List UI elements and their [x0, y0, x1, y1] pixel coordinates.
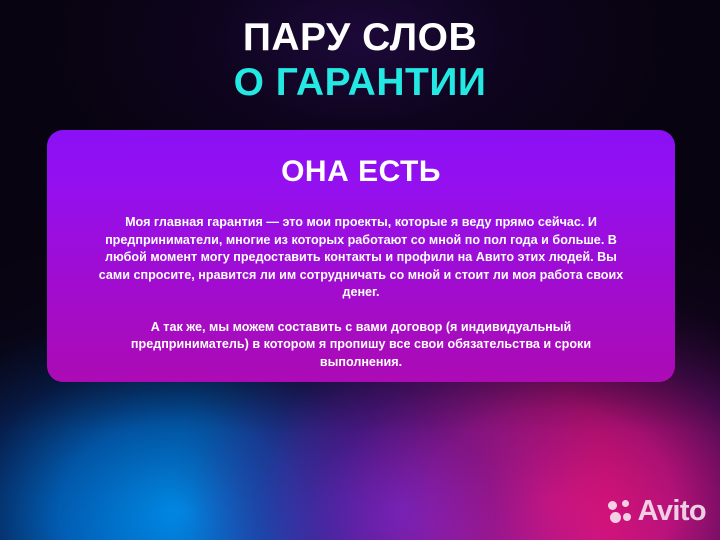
- guarantee-card: ОНА ЕСТЬ Моя главная гарантия — это мои …: [47, 130, 675, 382]
- card-paragraph: Моя главная гарантия — это мои проекты, …: [93, 214, 629, 302]
- card-body: Моя главная гарантия — это мои проекты, …: [75, 214, 647, 371]
- title-line-accent: О ГАРАНТИИ: [0, 60, 720, 105]
- page-title: ПАРУ СЛОВ О ГАРАНТИИ: [0, 15, 720, 105]
- avito-dots-icon: [608, 500, 633, 524]
- card-paragraph: А так же, мы можем составить с вами дого…: [93, 319, 629, 372]
- title-line-primary: ПАРУ СЛОВ: [0, 15, 720, 60]
- avito-watermark: Avito: [608, 497, 706, 526]
- avito-wordmark: Avito: [638, 497, 706, 526]
- card-heading: ОНА ЕСТЬ: [75, 154, 647, 190]
- slide-canvas: ПАРУ СЛОВ О ГАРАНТИИ ОНА ЕСТЬ Моя главна…: [0, 0, 720, 540]
